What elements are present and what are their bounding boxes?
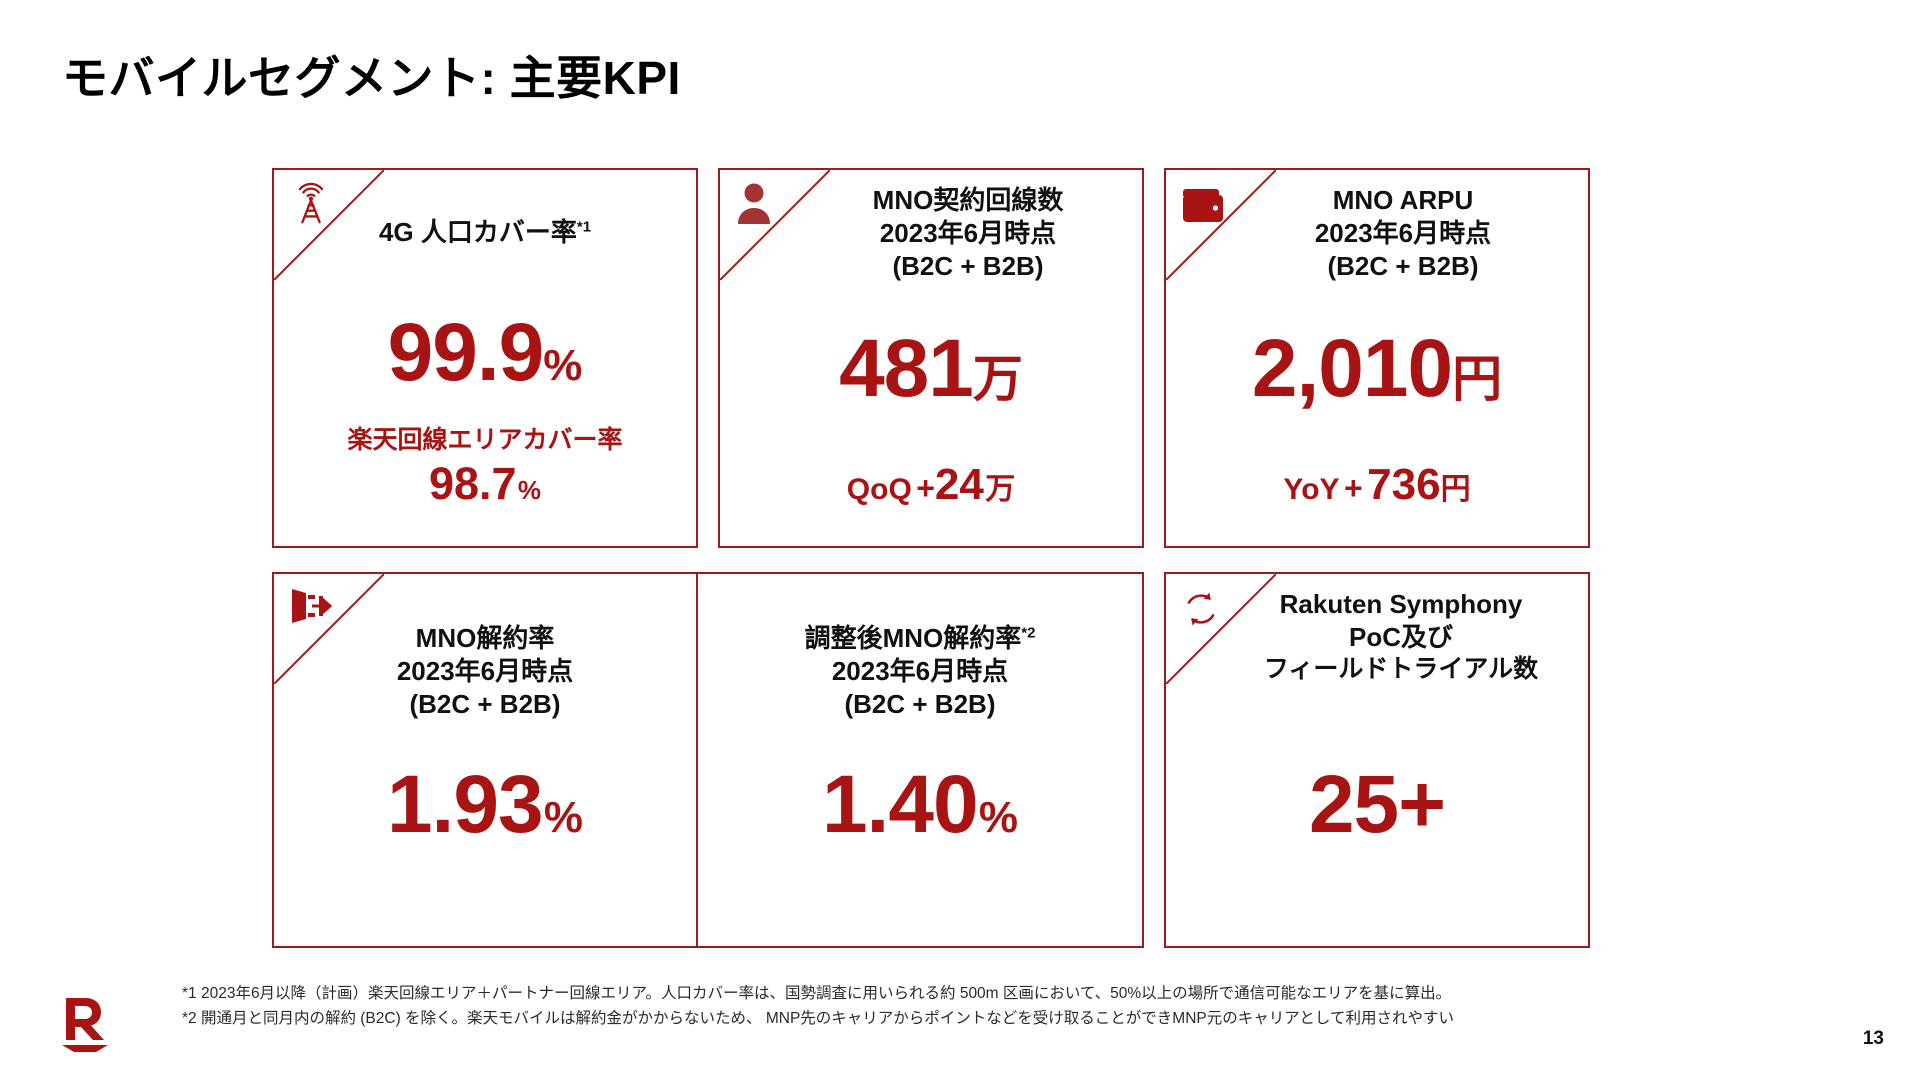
card-title-line-2: 2023年6月時点 bbox=[1230, 217, 1576, 250]
kpi-grid: 4G 人口カバー率*1 99.9% 楽天回線エリアカバー率 98.7 % MNO… bbox=[272, 168, 1650, 948]
card-title-line-1: MNO ARPU bbox=[1230, 184, 1576, 217]
kpi-sub-value: 98.7 % bbox=[274, 458, 696, 510]
kpi-value-number: 25+ bbox=[1309, 759, 1445, 850]
kpi-value-number: 1.93 bbox=[387, 759, 543, 850]
card-title: 調整後MNO解約率*2 2023年6月時点 (B2C + B2B) bbox=[698, 622, 1142, 720]
card-title-line-3: (B2C + B2B) bbox=[1230, 250, 1576, 283]
card-title-line-3: (B2C + B2B) bbox=[286, 688, 684, 721]
exit-door-icon bbox=[288, 586, 332, 626]
kpi-delta-sign: + bbox=[916, 470, 935, 506]
kpi-delta: YoY + 736円 bbox=[1166, 460, 1588, 510]
kpi-delta-label: YoY bbox=[1283, 473, 1339, 506]
kpi-delta-unit: 万 bbox=[985, 473, 1015, 506]
kpi-delta-value: 736 bbox=[1367, 460, 1440, 509]
kpi-sub-value-number: 98.7 bbox=[429, 458, 517, 509]
card-title: MNO ARPU 2023年6月時点 (B2C + B2B) bbox=[1166, 184, 1588, 282]
card-title-line-1: MNO解約率 bbox=[286, 622, 684, 655]
card-title-line-2: 2023年6月時点 bbox=[710, 655, 1130, 688]
card-title-line-2: 2023年6月時点 bbox=[806, 217, 1130, 250]
kpi-value: 2,010円 bbox=[1166, 322, 1588, 416]
kpi-value: 99.9% bbox=[274, 306, 696, 400]
kpi-value-number: 1.40 bbox=[822, 759, 978, 850]
slide-root: モバイルセグメント: 主要KPI 4G 人口カバー率*1 bbox=[0, 0, 1920, 1080]
kpi-card-4g-population-coverage[interactable]: 4G 人口カバー率*1 99.9% 楽天回線エリアカバー率 98.7 % bbox=[272, 168, 698, 548]
kpi-value: 481万 bbox=[720, 322, 1142, 416]
kpi-delta-label: QoQ bbox=[847, 473, 912, 506]
card-title-footnote-marker: *1 bbox=[577, 218, 591, 235]
card-title-line-1: MNO契約回線数 bbox=[806, 184, 1130, 217]
kpi-card-mno-churn-rate[interactable]: MNO解約率 2023年6月時点 (B2C + B2B) 1.93 % bbox=[272, 572, 698, 948]
footnote-2: *2 開通月と同月内の解約 (B2C) を除く。楽天モバイルは解約金がかからない… bbox=[182, 1007, 1454, 1032]
kpi-value: 25+ bbox=[1166, 758, 1588, 852]
kpi-delta-sign: + bbox=[1344, 470, 1363, 506]
card-title: Rakuten Symphony PoC及び フィールドトライアル数 bbox=[1166, 588, 1588, 685]
kpi-delta-value: 24 bbox=[935, 460, 984, 509]
kpi-value-unit: % bbox=[543, 341, 582, 390]
card-title-line-1: Rakuten Symphony bbox=[1226, 588, 1576, 621]
kpi-value-unit: 万 bbox=[973, 351, 1023, 407]
kpi-value: 1.93 % bbox=[274, 758, 696, 852]
card-title: 4G 人口カバー率*1 bbox=[274, 216, 696, 249]
kpi-value-number: 99.9 bbox=[388, 307, 544, 398]
kpi-card-mno-arpu[interactable]: MNO ARPU 2023年6月時点 (B2C + B2B) 2,010円 Yo… bbox=[1164, 168, 1590, 548]
page-number: 13 bbox=[1863, 1028, 1884, 1050]
card-title-line-1: 調整後MNO解約率*2 bbox=[710, 622, 1130, 655]
card-title-footnote-marker: *2 bbox=[1021, 624, 1035, 641]
card-title: MNO解約率 2023年6月時点 (B2C + B2B) bbox=[274, 622, 696, 720]
card-title-line-2: PoC及び bbox=[1226, 621, 1576, 654]
card-title-text: 4G 人口カバー率 bbox=[379, 217, 577, 247]
card-title-line-3: (B2C + B2B) bbox=[710, 688, 1130, 721]
kpi-delta-unit: 円 bbox=[1441, 473, 1471, 506]
kpi-card-adjusted-mno-churn-rate[interactable]: 調整後MNO解約率*2 2023年6月時点 (B2C + B2B) 1.40 % bbox=[698, 572, 1144, 948]
kpi-value-unit: % bbox=[979, 793, 1018, 842]
kpi-value: 1.40 % bbox=[698, 758, 1142, 852]
kpi-value-unit: % bbox=[544, 793, 583, 842]
footnotes: *1 2023年6月以降（計画）楽天回線エリア＋パートナー回線エリア。人口カバー… bbox=[182, 982, 1454, 1032]
card-title-text: 調整後MNO解約率 bbox=[805, 623, 1022, 653]
footnote-1: *1 2023年6月以降（計画）楽天回線エリア＋パートナー回線エリア。人口カバー… bbox=[182, 982, 1454, 1007]
kpi-value-unit: 円 bbox=[1452, 351, 1502, 407]
kpi-delta: QoQ +24 万 bbox=[720, 460, 1142, 510]
kpi-value-number: 481 bbox=[839, 323, 973, 414]
card-title-line-3: (B2C + B2B) bbox=[806, 250, 1130, 283]
rakuten-r-logo bbox=[52, 992, 116, 1054]
kpi-value-number: 2,010 bbox=[1252, 323, 1452, 414]
page-title: モバイルセグメント: 主要KPI bbox=[62, 42, 681, 108]
kpi-sub-value-unit: % bbox=[518, 475, 541, 505]
kpi-card-rakuten-symphony-poc[interactable]: Rakuten Symphony PoC及び フィールドトライアル数 25+ bbox=[1164, 572, 1590, 948]
kpi-sub-label: 楽天回線エリアカバー率 bbox=[274, 420, 696, 456]
kpi-card-mno-subscriptions[interactable]: MNO契約回線数 2023年6月時点 (B2C + B2B) 481万 QoQ … bbox=[718, 168, 1144, 548]
card-title-line-3: フィールドトライアル数 bbox=[1226, 654, 1576, 686]
card-title-line-2: 2023年6月時点 bbox=[286, 655, 684, 688]
card-title: MNO契約回線数 2023年6月時点 (B2C + B2B) bbox=[720, 184, 1142, 282]
